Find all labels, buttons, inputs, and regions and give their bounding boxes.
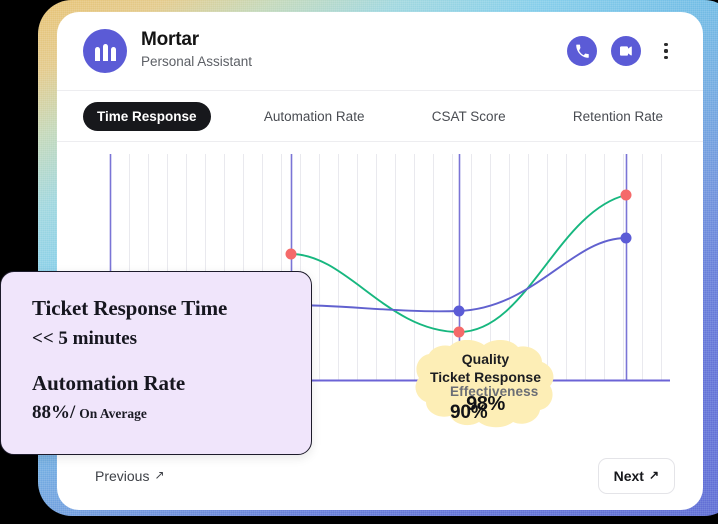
callout-line-1: Quality xyxy=(462,351,509,369)
mortar-columns-icon xyxy=(83,29,127,73)
phone-icon[interactable] xyxy=(567,36,597,66)
screenshot-stage: Mortar Personal Assistant xyxy=(0,0,718,524)
brand-name: Mortar xyxy=(141,29,252,52)
brand-subtitle: Personal Assistant xyxy=(141,52,252,72)
brand: Mortar Personal Assistant xyxy=(83,29,252,73)
data-point-quality-2 xyxy=(454,327,465,338)
note-title-automation-rate: Automation Rate xyxy=(32,371,311,396)
video-camera-icon[interactable] xyxy=(611,36,641,66)
data-point-quality-3 xyxy=(621,190,632,201)
caption-value: 90% xyxy=(450,402,538,424)
note-spacer xyxy=(32,350,311,371)
data-point-quality-1 xyxy=(286,249,297,260)
effectiveness-caption: Effectiveness 90% xyxy=(450,384,538,424)
note-value-response-time: << 5 minutes xyxy=(32,328,311,350)
previous-label: Previous xyxy=(95,468,149,484)
arrow-up-right-icon: ↗ xyxy=(154,469,164,481)
previous-button[interactable]: Previous ↗ xyxy=(95,468,165,484)
data-point-effectiveness-1 xyxy=(454,306,465,317)
tab-time-response[interactable]: Time Response xyxy=(83,102,211,131)
data-point-effectiveness-2 xyxy=(621,233,632,244)
header-actions xyxy=(567,36,675,66)
tab-csat-score[interactable]: CSAT Score xyxy=(418,102,520,131)
kebab-menu-icon[interactable] xyxy=(657,39,675,63)
tab-bar: Time Response Automation Rate CSAT Score… xyxy=(57,90,703,142)
next-label: Next xyxy=(614,468,644,484)
tab-retention-rate[interactable]: Retention Rate xyxy=(559,102,677,131)
note-title-response-time: Ticket Response Time xyxy=(32,296,311,321)
note-value-automation-rate: 88%/ xyxy=(32,402,75,424)
note-value-automation-suffix: On Average xyxy=(79,406,147,422)
metrics-note-card: Ticket Response Time << 5 minutes Automa… xyxy=(0,271,312,455)
tab-automation-rate[interactable]: Automation Rate xyxy=(250,102,379,131)
next-button[interactable]: Next ↗ xyxy=(598,458,675,494)
app-header: Mortar Personal Assistant xyxy=(57,12,703,90)
caption-label: Effectiveness xyxy=(450,384,538,399)
arrow-up-right-icon: ↗ xyxy=(649,469,659,481)
series-line-effectiveness xyxy=(291,238,626,311)
